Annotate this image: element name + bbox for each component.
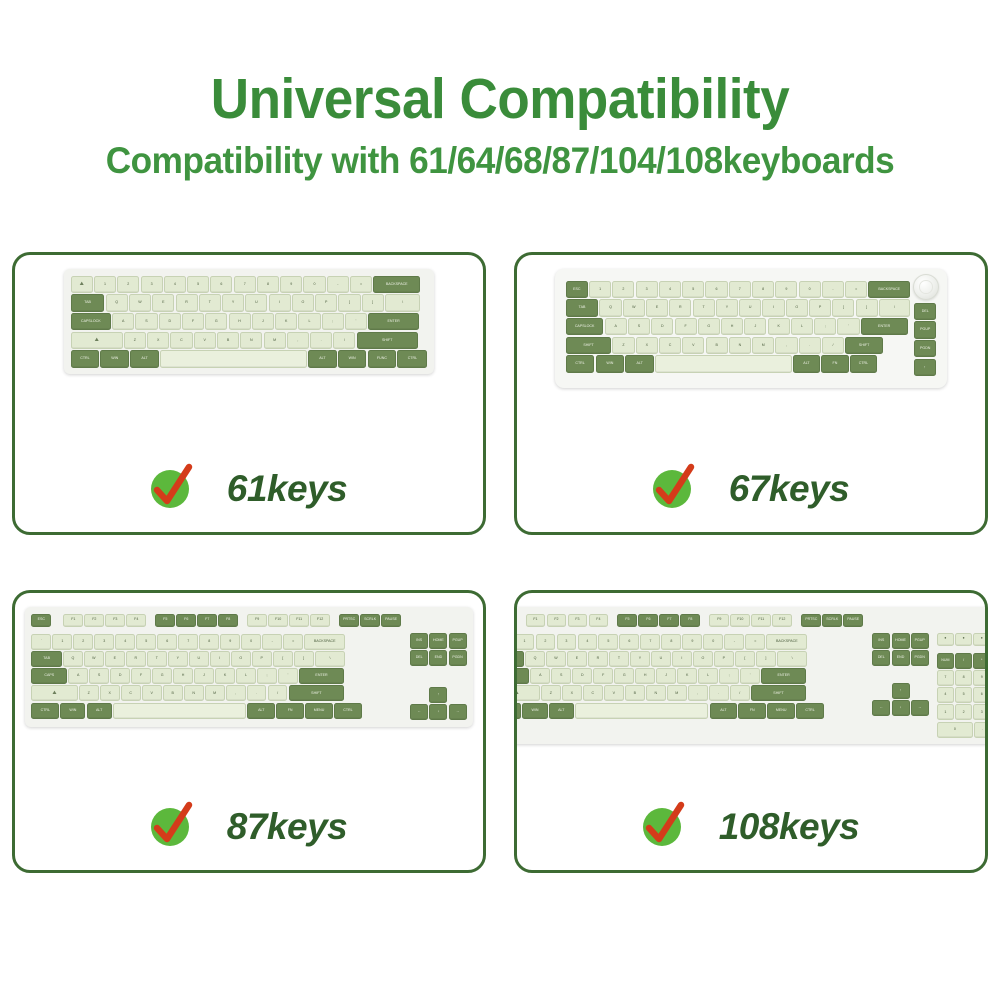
key-capslock[interactable]: CAPSLOCK	[566, 318, 604, 336]
key-b[interactable]: B	[706, 337, 728, 355]
key--[interactable]: -	[822, 281, 844, 299]
key-e[interactable]: E	[646, 299, 668, 317]
key-g[interactable]: G	[152, 668, 172, 684]
key-esc[interactable]: ⛰	[71, 276, 93, 294]
key-9[interactable]: 9	[973, 670, 988, 686]
key-alt[interactable]: ALT	[130, 350, 159, 368]
key-ctrl[interactable]: CTRL	[397, 350, 427, 368]
key-fn[interactable]: FN	[276, 703, 304, 719]
key-8[interactable]: 8	[955, 670, 972, 686]
key-enter[interactable]: ENTER	[861, 318, 908, 336]
key-o[interactable]: O	[231, 651, 251, 667]
key-2[interactable]: 2	[955, 704, 972, 720]
key-pause[interactable]: PAUSE	[381, 614, 401, 627]
key-j[interactable]: J	[252, 313, 274, 331]
key-9[interactable]: 9	[775, 281, 797, 299]
key-f5[interactable]: F5	[617, 614, 637, 627]
key-w[interactable]: W	[129, 294, 151, 312]
key-y[interactable]: Y	[630, 651, 650, 667]
key-h[interactable]: H	[635, 668, 655, 684]
key-5[interactable]: 5	[136, 634, 156, 650]
key--[interactable]: ●	[955, 633, 972, 646]
key--[interactable]: ]	[362, 294, 384, 312]
key--[interactable]: ]	[294, 651, 314, 667]
key-x[interactable]: X	[562, 685, 582, 701]
key-z[interactable]: Z	[541, 685, 561, 701]
key-f1[interactable]: F1	[63, 614, 83, 627]
key-a[interactable]: A	[530, 668, 550, 684]
key--[interactable]: →	[911, 700, 929, 716]
key--[interactable]: =	[745, 634, 765, 650]
key--[interactable]: →	[449, 704, 467, 720]
key-f[interactable]: F	[131, 668, 151, 684]
key-menu[interactable]: MENU	[305, 703, 333, 719]
key-l[interactable]: L	[698, 668, 718, 684]
key-w[interactable]: W	[623, 299, 645, 317]
key-m[interactable]: M	[752, 337, 774, 355]
key-4[interactable]: 4	[164, 276, 186, 294]
key-f4[interactable]: F4	[589, 614, 609, 627]
key--[interactable]: ↓	[429, 704, 447, 720]
key-t[interactable]: T	[147, 651, 167, 667]
key-ctrl[interactable]: CTRL	[334, 703, 362, 719]
key-f2[interactable]: F2	[84, 614, 104, 627]
key--[interactable]: .	[247, 685, 267, 701]
key-b[interactable]: B	[217, 332, 239, 350]
key-del[interactable]: DEL	[872, 650, 890, 666]
key-space[interactable]	[655, 355, 792, 373]
key-q[interactable]: Q	[599, 299, 621, 317]
compat-card-kb-87[interactable]: ESCF1F2F3F4F5F6F7F8F9F10F11F12PRTSCSCRLK…	[12, 590, 486, 873]
key-t[interactable]: T	[693, 299, 715, 317]
key--[interactable]: ;	[719, 668, 739, 684]
key--[interactable]: ↑	[892, 683, 910, 699]
key-r[interactable]: R	[669, 299, 691, 317]
key-7[interactable]: 7	[729, 281, 751, 299]
key-capslock[interactable]: CAPSLOCK	[71, 313, 111, 331]
key-s[interactable]: S	[551, 668, 571, 684]
key-pgup[interactable]: PGUP	[911, 633, 929, 649]
key-alt[interactable]: ALT	[308, 350, 337, 368]
key-caps[interactable]: CAPS	[514, 668, 529, 684]
key-end[interactable]: END	[892, 650, 910, 666]
key-d[interactable]: D	[572, 668, 592, 684]
key-shift[interactable]: SHIFT	[751, 685, 806, 701]
key-win[interactable]: WIN	[100, 350, 129, 368]
key-r[interactable]: R	[588, 651, 608, 667]
key--[interactable]: ↑	[914, 359, 936, 377]
key-x[interactable]: X	[147, 332, 169, 350]
key-9[interactable]: 9	[280, 276, 302, 294]
key-c[interactable]: C	[170, 332, 192, 350]
key-f8[interactable]: F8	[680, 614, 700, 627]
key-k[interactable]: K	[768, 318, 790, 336]
key-f2[interactable]: F2	[547, 614, 567, 627]
key-w[interactable]: W	[546, 651, 566, 667]
key-shift[interactable]: SHIFT	[845, 337, 883, 355]
key--[interactable]: ↓	[892, 700, 910, 716]
key-p[interactable]: P	[714, 651, 734, 667]
key-tab[interactable]: TAB	[566, 299, 599, 317]
rotary-knob[interactable]	[913, 274, 939, 300]
key-enter[interactable]: ENTER	[368, 313, 419, 331]
key-f[interactable]: F	[675, 318, 697, 336]
key-win[interactable]: WIN	[522, 703, 547, 719]
key-f10[interactable]: F10	[268, 614, 288, 627]
key--[interactable]: ]	[756, 651, 776, 667]
key-ins[interactable]: INS	[410, 633, 428, 649]
key--[interactable]: \	[879, 299, 910, 317]
key-esc[interactable]: ESC	[31, 614, 51, 627]
key-esc[interactable]: ESC	[566, 281, 588, 299]
key-6[interactable]: 6	[210, 276, 232, 294]
key-b[interactable]: B	[625, 685, 645, 701]
key--[interactable]: ;	[814, 318, 836, 336]
key--[interactable]: .	[974, 722, 988, 738]
key-pgdn[interactable]: PGDN	[449, 650, 467, 666]
key-f9[interactable]: F9	[247, 614, 267, 627]
key-6[interactable]: 6	[705, 281, 727, 299]
key-r[interactable]: R	[176, 294, 198, 312]
key-6[interactable]: 6	[619, 634, 639, 650]
key-a[interactable]: A	[68, 668, 88, 684]
key-j[interactable]: J	[194, 668, 214, 684]
key--[interactable]: '	[345, 313, 367, 331]
key--[interactable]: [	[338, 294, 360, 312]
key-c[interactable]: C	[583, 685, 603, 701]
key-ctrl[interactable]: CTRL	[71, 350, 100, 368]
key-i[interactable]: I	[269, 294, 291, 312]
key-scrlk[interactable]: SCRLK	[822, 614, 842, 627]
key-q[interactable]: Q	[106, 294, 128, 312]
key-2[interactable]: 2	[117, 276, 139, 294]
key-y[interactable]: Y	[168, 651, 188, 667]
key-o[interactable]: O	[786, 299, 808, 317]
key-5[interactable]: 5	[955, 687, 972, 703]
compat-card-kb-108[interactable]: ESCF1F2F3F4F5F6F7F8F9F10F11F12PRTSCSCRLK…	[514, 590, 988, 873]
key-f8[interactable]: F8	[218, 614, 238, 627]
key-s[interactable]: S	[135, 313, 157, 331]
key-f3[interactable]: F3	[568, 614, 588, 627]
key-g[interactable]: G	[614, 668, 634, 684]
key-o[interactable]: O	[292, 294, 314, 312]
key-v[interactable]: V	[142, 685, 162, 701]
key--[interactable]: ←	[410, 704, 428, 720]
key-y[interactable]: Y	[716, 299, 738, 317]
key-p[interactable]: P	[809, 299, 831, 317]
key-h[interactable]: H	[173, 668, 193, 684]
key-l[interactable]: L	[236, 668, 256, 684]
key-alt[interactable]: ALT	[247, 703, 275, 719]
key-win[interactable]: WIN	[596, 355, 625, 373]
key-backspace[interactable]: BACKSPACE	[766, 634, 807, 650]
key-1[interactable]: 1	[589, 281, 611, 299]
key-f6[interactable]: F6	[638, 614, 658, 627]
key-prtsc[interactable]: PRTSC	[801, 614, 821, 627]
key-q[interactable]: Q	[63, 651, 83, 667]
key-2[interactable]: 2	[612, 281, 634, 299]
key-r[interactable]: R	[126, 651, 146, 667]
key--[interactable]: ,	[226, 685, 246, 701]
key-5[interactable]: 5	[598, 634, 618, 650]
key-j[interactable]: J	[656, 668, 676, 684]
key--[interactable]: [	[273, 651, 293, 667]
key-f4[interactable]: F4	[126, 614, 146, 627]
key-e[interactable]: E	[152, 294, 174, 312]
key-7[interactable]: 7	[937, 670, 954, 686]
key-menu[interactable]: MENU	[767, 703, 795, 719]
key-u[interactable]: U	[739, 299, 761, 317]
key-6[interactable]: 6	[973, 687, 988, 703]
key-3[interactable]: 3	[557, 634, 577, 650]
key-h[interactable]: H	[721, 318, 743, 336]
key--[interactable]: -	[724, 634, 744, 650]
key-ctrl[interactable]: CTRL	[514, 703, 521, 719]
key-7[interactable]: 7	[234, 276, 256, 294]
key-alt[interactable]: ALT	[87, 703, 112, 719]
key-k[interactable]: K	[275, 313, 297, 331]
key-tab[interactable]: TAB	[71, 294, 105, 312]
key-space[interactable]	[113, 703, 246, 719]
key--[interactable]: [	[832, 299, 854, 317]
key-z[interactable]: Z	[124, 332, 146, 350]
key-end[interactable]: END	[429, 650, 447, 666]
key-backspace[interactable]: BACKSPACE	[373, 276, 420, 294]
key-shift[interactable]: SHIFT	[566, 337, 612, 355]
key-m[interactable]: M	[205, 685, 225, 701]
key--[interactable]: ●	[937, 633, 954, 646]
key-f10[interactable]: F10	[730, 614, 750, 627]
key-3[interactable]: 3	[973, 704, 988, 720]
key-f11[interactable]: F11	[289, 614, 309, 627]
key-enter[interactable]: ENTER	[299, 668, 344, 684]
key-fn[interactable]: FN	[738, 703, 766, 719]
key-t[interactable]: T	[199, 294, 221, 312]
key--[interactable]: ,	[775, 337, 797, 355]
key--[interactable]: /	[730, 685, 750, 701]
key-f11[interactable]: F11	[751, 614, 771, 627]
key-pgup[interactable]: PGUP	[449, 633, 467, 649]
key-d[interactable]: D	[110, 668, 130, 684]
key--[interactable]: \	[315, 651, 345, 667]
key-4[interactable]: 4	[659, 281, 681, 299]
key-z[interactable]: Z	[79, 685, 99, 701]
key--[interactable]: .	[310, 332, 332, 350]
key-win[interactable]: WIN	[338, 350, 367, 368]
compat-card-kb-61[interactable]: ⛰1234567890-=BACKSPACETABQWERTYUIOP[]\CA…	[12, 252, 486, 535]
key-g[interactable]: G	[205, 313, 227, 331]
key--[interactable]: ●	[973, 633, 988, 646]
key-scrlk[interactable]: SCRLK	[360, 614, 380, 627]
key-alt[interactable]: ALT	[625, 355, 654, 373]
key-func[interactable]: FUNC	[368, 350, 397, 368]
key-t[interactable]: T	[609, 651, 629, 667]
key-pause[interactable]: PAUSE	[843, 614, 863, 627]
key-ctrl[interactable]: CTRL	[31, 703, 59, 719]
key-backspace[interactable]: BACKSPACE	[868, 281, 910, 299]
key-z[interactable]: Z	[612, 337, 634, 355]
key-0[interactable]: 0	[799, 281, 821, 299]
key-n[interactable]: N	[240, 332, 262, 350]
key-a[interactable]: A	[605, 318, 627, 336]
key-v[interactable]: V	[194, 332, 216, 350]
key-1[interactable]: 1	[94, 276, 116, 294]
key-j[interactable]: J	[744, 318, 766, 336]
key-y[interactable]: Y	[222, 294, 244, 312]
key-w[interactable]: W	[84, 651, 104, 667]
key-caps[interactable]: CAPS	[31, 668, 67, 684]
key-o[interactable]: O	[693, 651, 713, 667]
key-v[interactable]: V	[682, 337, 704, 355]
key-v[interactable]: V	[604, 685, 624, 701]
key-fn[interactable]: FN	[821, 355, 848, 373]
key--[interactable]: ,	[287, 332, 309, 350]
key-home[interactable]: HOME	[892, 633, 910, 649]
key-win[interactable]: WIN	[60, 703, 85, 719]
key-k[interactable]: K	[215, 668, 235, 684]
key--[interactable]: =	[283, 634, 303, 650]
key--[interactable]: .	[709, 685, 729, 701]
key--[interactable]: ,	[688, 685, 708, 701]
key-9[interactable]: 9	[682, 634, 702, 650]
key-shift[interactable]: ⛰	[31, 685, 77, 701]
key-l[interactable]: L	[298, 313, 320, 331]
key-m[interactable]: M	[667, 685, 687, 701]
key-p[interactable]: P	[315, 294, 337, 312]
key--[interactable]: `	[31, 634, 51, 650]
key-f7[interactable]: F7	[197, 614, 217, 627]
key-u[interactable]: U	[245, 294, 267, 312]
key-f9[interactable]: F9	[709, 614, 729, 627]
key-del[interactable]: DEL	[914, 303, 936, 321]
key-pgdn[interactable]: PGDN	[914, 340, 936, 358]
key-i[interactable]: I	[210, 651, 230, 667]
key-pgdn[interactable]: PGDN	[911, 650, 929, 666]
key--[interactable]: '	[278, 668, 298, 684]
key-c[interactable]: C	[121, 685, 141, 701]
compat-card-kb-67[interactable]: ESC1234567890-=BACKSPACETABQWERTYUIOP[]\…	[514, 252, 988, 535]
key--[interactable]: /	[333, 332, 355, 350]
key-1[interactable]: 1	[937, 704, 954, 720]
key-shift[interactable]: ⛰	[71, 332, 123, 350]
key-8[interactable]: 8	[257, 276, 279, 294]
key-alt[interactable]: ALT	[710, 703, 738, 719]
key-3[interactable]: 3	[94, 634, 114, 650]
key-6[interactable]: 6	[157, 634, 177, 650]
key-f1[interactable]: F1	[526, 614, 546, 627]
key-5[interactable]: 5	[682, 281, 704, 299]
key-e[interactable]: E	[105, 651, 125, 667]
key-s[interactable]: S	[89, 668, 109, 684]
key-7[interactable]: 7	[178, 634, 198, 650]
key-backspace[interactable]: BACKSPACE	[304, 634, 345, 650]
key--[interactable]: \	[385, 294, 420, 312]
key--[interactable]: *	[973, 653, 988, 669]
key--[interactable]: ←	[872, 700, 890, 716]
key-8[interactable]: 8	[752, 281, 774, 299]
key-d[interactable]: D	[651, 318, 673, 336]
key-num[interactable]: NUM	[937, 653, 954, 669]
key-1[interactable]: 1	[515, 634, 535, 650]
key--[interactable]: -	[327, 276, 349, 294]
key-e[interactable]: E	[567, 651, 587, 667]
key-f6[interactable]: F6	[176, 614, 196, 627]
key-q[interactable]: Q	[525, 651, 545, 667]
key--[interactable]: =	[350, 276, 372, 294]
key-5[interactable]: 5	[187, 276, 209, 294]
key-a[interactable]: A	[112, 313, 134, 331]
key-n[interactable]: N	[646, 685, 666, 701]
key--[interactable]: /	[268, 685, 288, 701]
key-alt[interactable]: ALT	[793, 355, 820, 373]
key-4[interactable]: 4	[578, 634, 598, 650]
key-7[interactable]: 7	[640, 634, 660, 650]
key--[interactable]: '	[740, 668, 760, 684]
key-shift[interactable]: ⛰	[514, 685, 540, 701]
key-shift[interactable]: SHIFT	[289, 685, 344, 701]
key-0[interactable]: 0	[241, 634, 261, 650]
key-g[interactable]: G	[698, 318, 720, 336]
key-h[interactable]: H	[229, 313, 251, 331]
key-8[interactable]: 8	[199, 634, 219, 650]
key-4[interactable]: 4	[115, 634, 135, 650]
key-f[interactable]: F	[182, 313, 204, 331]
key-3[interactable]: 3	[636, 281, 658, 299]
key-2[interactable]: 2	[536, 634, 556, 650]
key-f7[interactable]: F7	[659, 614, 679, 627]
key-space[interactable]	[575, 703, 708, 719]
key-u[interactable]: U	[651, 651, 671, 667]
key-ins[interactable]: INS	[872, 633, 890, 649]
key-0[interactable]: 0	[703, 634, 723, 650]
key-f5[interactable]: F5	[155, 614, 175, 627]
key--[interactable]: ]	[856, 299, 878, 317]
key-c[interactable]: C	[659, 337, 681, 355]
key-enter[interactable]: ENTER	[761, 668, 806, 684]
key-x[interactable]: X	[636, 337, 658, 355]
key-i[interactable]: I	[762, 299, 784, 317]
key--[interactable]: /	[955, 653, 972, 669]
key-x[interactable]: X	[100, 685, 120, 701]
key--[interactable]: \	[777, 651, 807, 667]
key-n[interactable]: N	[729, 337, 751, 355]
key-tab[interactable]: TAB	[31, 651, 61, 667]
key-tab[interactable]: TAB	[514, 651, 524, 667]
key-0[interactable]: 0	[937, 722, 973, 738]
key-s[interactable]: S	[628, 318, 650, 336]
key-2[interactable]: 2	[73, 634, 93, 650]
key-shift[interactable]: SHIFT	[357, 332, 418, 350]
key-del[interactable]: DEL	[410, 650, 428, 666]
key-f12[interactable]: F12	[310, 614, 330, 627]
key-b[interactable]: B	[163, 685, 183, 701]
key--[interactable]: '	[837, 318, 859, 336]
key-pgup[interactable]: PGUP	[914, 321, 936, 339]
key-8[interactable]: 8	[661, 634, 681, 650]
key-m[interactable]: M	[264, 332, 286, 350]
key-k[interactable]: K	[677, 668, 697, 684]
key--[interactable]: ;	[257, 668, 277, 684]
key-1[interactable]: 1	[52, 634, 72, 650]
key--[interactable]: ↑	[429, 687, 447, 703]
key-u[interactable]: U	[189, 651, 209, 667]
key-f12[interactable]: F12	[772, 614, 792, 627]
key-l[interactable]: L	[791, 318, 813, 336]
key--[interactable]: -	[262, 634, 282, 650]
key-9[interactable]: 9	[220, 634, 240, 650]
key-ctrl[interactable]: CTRL	[796, 703, 824, 719]
key-space[interactable]	[160, 350, 307, 368]
